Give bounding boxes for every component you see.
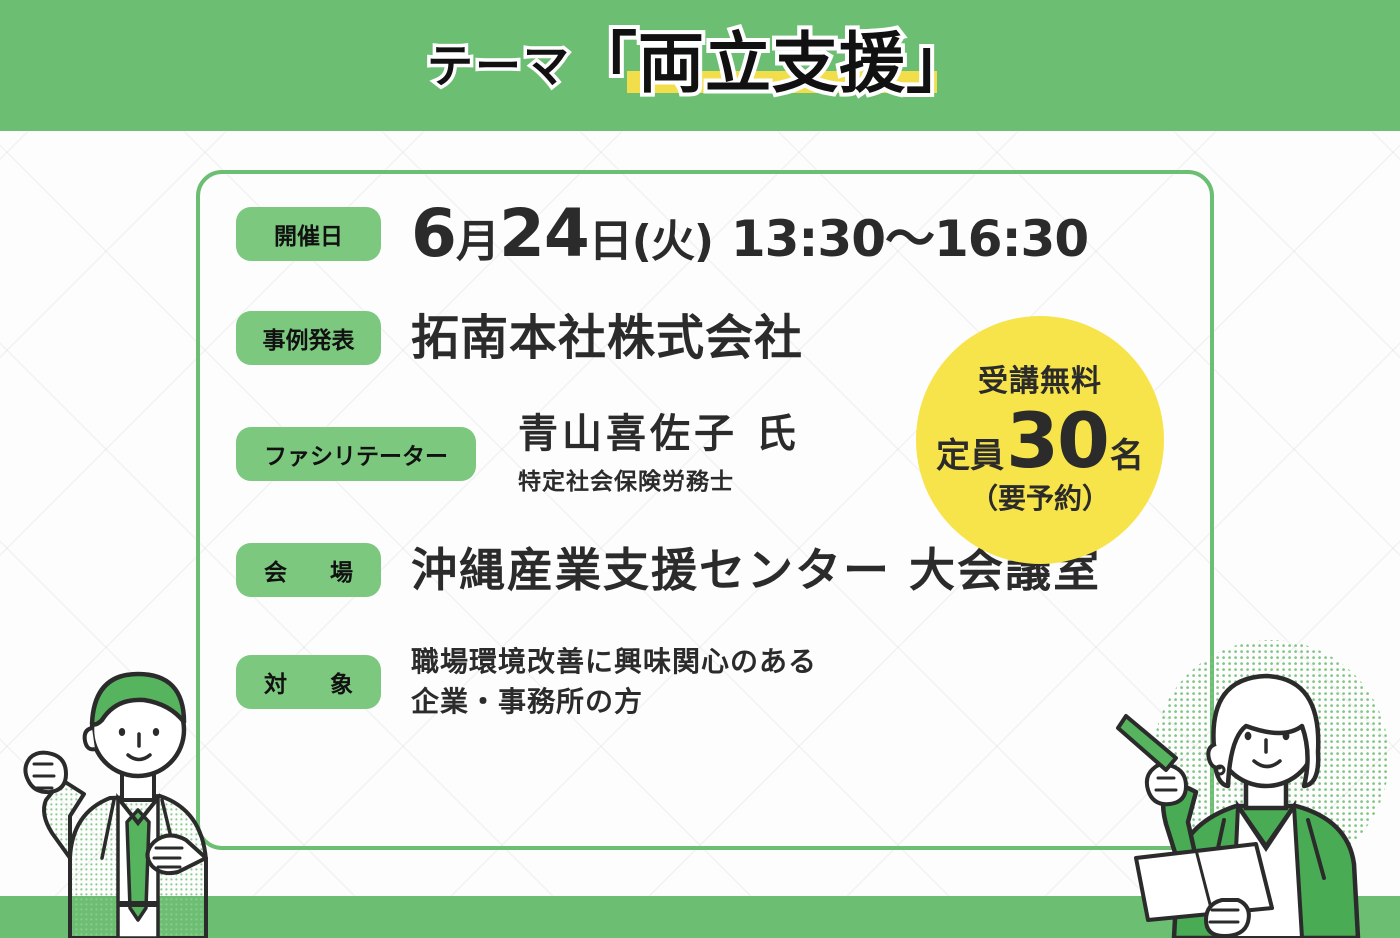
- date-weekday: (火): [632, 216, 713, 267]
- row-date: 開催日 6月24日(火) 13:30〜16:30: [236, 186, 1216, 282]
- date-time: 13:30〜16:30: [731, 210, 1088, 268]
- row-target: 対 象 職場環境改善に興味関心のある 企業・事務所の方: [236, 626, 1216, 738]
- header-banner: テーマ 「両立支援」: [0, 0, 1400, 131]
- facilitator-qualification: 特定社会保険労務士: [518, 462, 800, 496]
- badge-facilitator: ファシリテーター: [236, 427, 476, 481]
- target-value: 職場環境改善に興味関心のある 企業・事務所の方: [411, 642, 817, 722]
- capacity-group: 定員30名: [936, 403, 1144, 479]
- date-day: 24: [499, 195, 589, 272]
- reservation-note: （要予約）: [970, 485, 1110, 513]
- theme-label: テーマ: [427, 43, 571, 101]
- target-line-2: 企業・事務所の方: [411, 682, 817, 722]
- capacity-number: 30: [1006, 403, 1108, 479]
- free-capacity-badge: 受講無料 定員30名 （要予約）: [916, 316, 1164, 564]
- badge-target: 対 象: [236, 655, 381, 709]
- date-day-unit: 日: [589, 216, 632, 267]
- header-title-group: テーマ 「両立支援」: [427, 31, 973, 101]
- badge-date: 開催日: [236, 207, 381, 261]
- facilitator-value: 青山喜佐子 氏 特定社会保険労務士: [518, 412, 800, 496]
- free-label: 受講無料: [978, 367, 1102, 397]
- badge-case-study: 事例発表: [236, 311, 381, 365]
- case-study-value: 拓南本社株式会社: [411, 314, 803, 362]
- facilitator-name: 青山喜佐子 氏: [518, 412, 800, 456]
- target-line-1: 職場環境改善に興味関心のある: [411, 642, 817, 682]
- capacity-unit: 名: [1110, 439, 1144, 473]
- theme-title: 「両立支援」: [571, 31, 973, 101]
- date-value: 6月24日(火) 13:30〜16:30: [411, 201, 1088, 267]
- date-month: 6: [411, 195, 456, 272]
- bottom-band: [0, 896, 1400, 938]
- badge-venue: 会 場: [236, 543, 381, 597]
- capacity-label: 定員: [936, 439, 1004, 473]
- event-flyer: テーマ 「両立支援」 開催日 6月24日(火) 13:30〜16:30 事例発表…: [0, 0, 1400, 938]
- date-month-unit: 月: [456, 216, 499, 267]
